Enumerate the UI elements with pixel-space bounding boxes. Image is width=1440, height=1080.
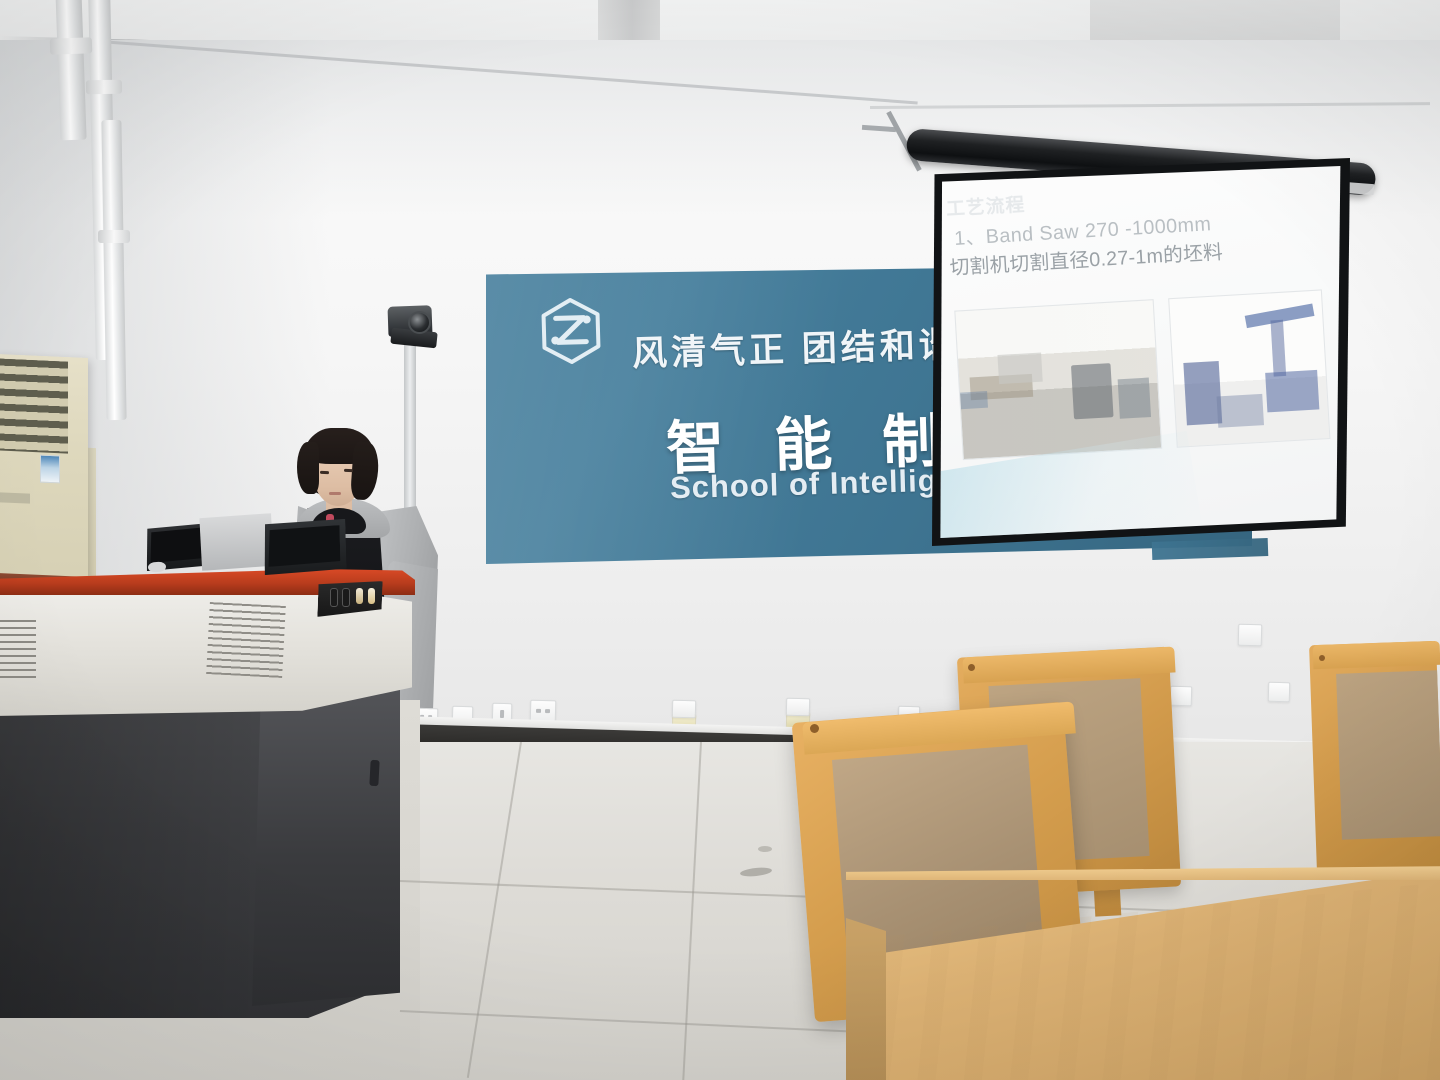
podium-monitor-right-screen[interactable] <box>267 525 340 567</box>
chair-right-top-rail <box>1313 641 1440 669</box>
slide-photo-object <box>1183 361 1222 425</box>
slide-photo-object <box>960 391 988 409</box>
wall-outlet[interactable] <box>1238 624 1263 647</box>
wall-outlet[interactable] <box>1170 686 1193 707</box>
pipe-joint-a <box>50 37 93 54</box>
floor-scuff <box>758 846 772 852</box>
wall-outlet[interactable] <box>786 698 810 717</box>
podium-base-shading <box>0 700 260 1018</box>
wall-pipe-upper <box>55 0 86 140</box>
slide-photo-object <box>1071 363 1114 419</box>
wall-outlet[interactable] <box>1268 682 1291 703</box>
presenter-mouth <box>329 492 341 495</box>
slide-photo-object <box>997 352 1042 384</box>
projected-slide: 工艺流程 1、Band Saw 270 -1000mm 切割机切割直径0.27-… <box>938 166 1342 538</box>
chair-front-knob <box>810 724 819 733</box>
podium-switch[interactable] <box>368 588 375 604</box>
banner-slogan: 风清气正 团结和谐 <box>631 316 958 376</box>
hexagon-z-logo-icon <box>537 295 605 367</box>
air-conditioner-label <box>40 455 60 484</box>
slide-photo-object <box>1270 320 1286 377</box>
slide-photo-object <box>1217 394 1264 428</box>
slide-title: 工艺流程 <box>945 190 1025 222</box>
classroom-scene: 风清气正 团结和谐 智 能 制 造 School of Intelligen 工… <box>0 0 1440 1080</box>
presenter-hair-left <box>297 442 319 494</box>
slide-photo-machine <box>1168 289 1330 447</box>
air-conditioner-louvers <box>0 358 68 453</box>
chair-right-cushion <box>1336 670 1440 839</box>
chair-right-knob <box>1319 655 1325 661</box>
podium-door[interactable] <box>252 676 400 1006</box>
slide-photo-object <box>1265 370 1319 412</box>
podium-vent <box>206 602 286 678</box>
podium-lock-icon[interactable] <box>369 760 379 786</box>
wall-outlet[interactable] <box>672 700 696 719</box>
podium-port[interactable] <box>330 588 338 607</box>
pipe-joint-c <box>98 230 130 243</box>
camera-lens-icon <box>408 311 431 334</box>
podium-monitor-left-screen[interactable] <box>149 527 208 563</box>
conference-table-side <box>846 918 886 1080</box>
pipe-joint-b <box>86 80 122 95</box>
camera-mount-pole <box>404 340 416 515</box>
podium-vent <box>0 620 36 682</box>
slide-photo-object <box>1118 378 1151 419</box>
podium-port[interactable] <box>342 588 350 607</box>
air-conditioner-slot <box>0 492 30 503</box>
chair-middle-knob <box>968 664 975 671</box>
presenter-eye-left <box>320 471 329 474</box>
podium-center-panel <box>199 513 272 571</box>
podium-switch[interactable] <box>356 588 363 604</box>
presenter-eye-right <box>344 469 353 472</box>
slide-photo-workshop <box>954 299 1162 460</box>
